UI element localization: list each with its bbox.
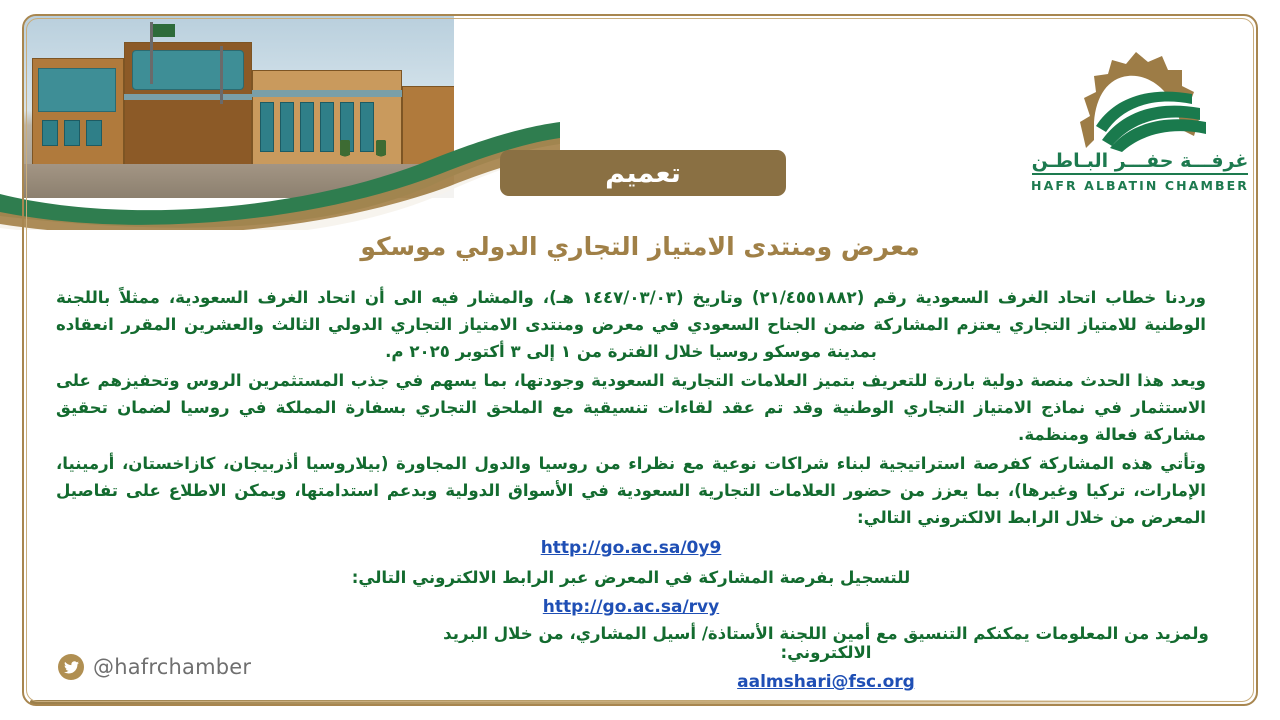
chamber-logo: غرفـــة حفـــر البـاطـن HAFR ALBATIN CHA… — [1030, 44, 1250, 204]
logo-arabic-name: غرفـــة حفـــر البـاطـن — [1032, 150, 1249, 175]
building-left-glass — [38, 68, 116, 112]
building-center-glass — [132, 50, 244, 90]
paragraph-3: وتأتي هذه المشاركة كفرصة استراتيجية لبنا… — [56, 450, 1206, 531]
circular-document: تعميم غرفـــة حفـــر البـاطـن HAFR ALBAT… — [0, 0, 1280, 720]
facade-band — [124, 94, 252, 100]
lamp-post — [220, 46, 223, 104]
logo-english-name: HAFR ALBATIN CHAMBER — [1031, 178, 1249, 193]
registration-link-row: http://go.ac.sa/rvy — [56, 592, 1206, 622]
decorative-swoosh — [0, 120, 560, 230]
circular-badge: تعميم — [500, 150, 786, 196]
paragraph-1: وردنا خطاب اتحاد الغرف السعودية رقم (٢١/… — [56, 284, 1206, 365]
twitter-handle-text: @hafrchamber — [93, 655, 251, 679]
contact-email-row: aalmshari@fsc.org — [436, 672, 1216, 692]
contact-note: ولمزيد من المعلومات يمكنكم التنسيق مع أم… — [436, 624, 1216, 662]
registration-label: للتسجيل بفرصة المشاركة في المعرض عبر الر… — [56, 563, 1206, 592]
logo-mark-icon — [1050, 44, 1230, 152]
exhibition-details-link[interactable]: http://go.ac.sa/0y9 — [541, 534, 722, 563]
registration-link[interactable]: http://go.ac.sa/rvy — [543, 593, 719, 622]
document-body: وردنا خطاب اتحاد الغرف السعودية رقم (٢١/… — [56, 284, 1206, 622]
contact-email-link[interactable]: aalmshari@fsc.org — [737, 672, 915, 692]
flag — [153, 24, 175, 37]
facade-band — [252, 90, 402, 97]
paragraph-2: ويعد هذا الحدث منصة دولية بارزة للتعريف … — [56, 367, 1206, 448]
twitter-icon — [58, 654, 84, 680]
details-link-row: http://go.ac.sa/0y9 — [56, 533, 1206, 563]
footer-rule — [30, 700, 1250, 704]
twitter-handle-group[interactable]: @hafrchamber — [58, 654, 251, 680]
page-title: معرض ومنتدى الامتياز التجاري الدولي موسك… — [0, 232, 1280, 261]
